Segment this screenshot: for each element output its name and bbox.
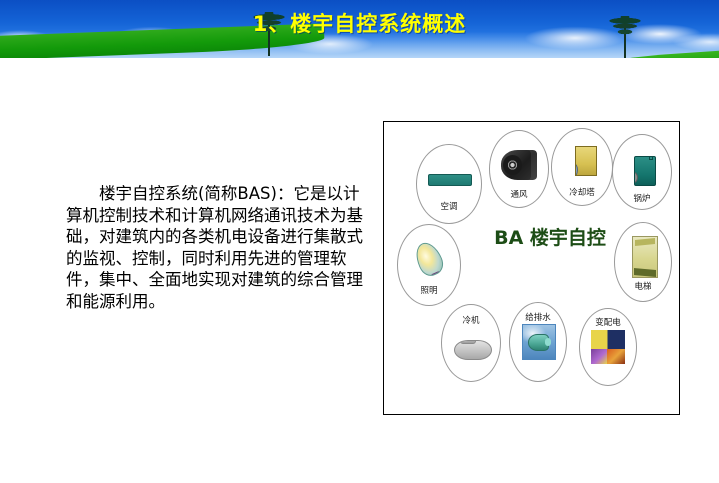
- node-label: 电梯: [614, 280, 672, 292]
- boiler-icon: [634, 156, 656, 186]
- node-label: 锅炉: [612, 192, 672, 204]
- body-paragraph: 楼宇自控系统(简称BAS)：它是以计算机控制技术和计算机网络通讯技术为基础，对建…: [66, 183, 370, 312]
- diagram-node-elevator[interactable]: 电梯: [614, 222, 672, 302]
- diagram-node-lighting[interactable]: 照明: [397, 224, 461, 306]
- elevator-icon: [632, 236, 658, 278]
- diagram-node-boiler[interactable]: 锅炉: [612, 134, 672, 210]
- slide-title: 1、楼宇自控系统概述: [0, 8, 719, 38]
- chiller-icon: [454, 340, 492, 360]
- diagram-node-ventilation[interactable]: 通风: [489, 130, 549, 208]
- diagram-node-water-supply[interactable]: 给排水: [509, 302, 567, 382]
- node-label: 空调: [416, 200, 482, 212]
- slide-root: 1、楼宇自控系统概述 楼宇自控系统(简称BAS)：它是以计算机控制技术和计算机网…: [0, 0, 719, 483]
- diagram-node-chiller[interactable]: 冷机: [441, 304, 501, 382]
- node-label: 冷却塔: [551, 186, 613, 198]
- node-label: 变配电: [579, 316, 637, 328]
- node-label: 冷机: [441, 314, 501, 326]
- node-label: 通风: [489, 188, 549, 200]
- bas-diagram-panel: BA 楼宇自控 空调 通风 冷却塔 锅炉 照明: [383, 121, 680, 415]
- hvac-unit-icon: [428, 174, 472, 186]
- node-label: 照明: [397, 284, 461, 296]
- node-label: 给排水: [509, 311, 567, 323]
- diagram-node-air-conditioning[interactable]: 空调: [416, 144, 482, 224]
- water-pump-icon: [522, 324, 556, 360]
- ventilation-fan-icon: [501, 150, 537, 180]
- diagram-center-title: BA 楼宇自控: [470, 223, 630, 250]
- diagram-node-power-distribution[interactable]: 变配电: [579, 308, 637, 386]
- power-distribution-icon: [591, 330, 625, 364]
- header-banner: 1、楼宇自控系统概述: [0, 0, 719, 58]
- diagram-node-cooling-tower[interactable]: 冷却塔: [551, 128, 613, 206]
- cooling-tower-icon: [575, 146, 597, 176]
